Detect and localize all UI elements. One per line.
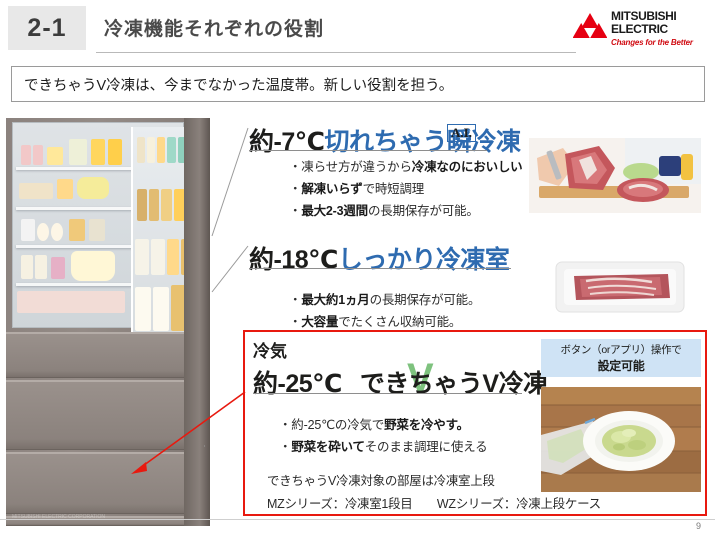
page-number: 9 (696, 521, 701, 531)
logo-tagline: Changes for the Better (611, 38, 693, 47)
bullet-text-tail: そのまま調理に使える (365, 440, 488, 454)
fridge-door-item (149, 189, 159, 221)
photo-meat-on-tray (540, 250, 700, 322)
fridge-door-item (161, 189, 172, 221)
freezer-drawer (6, 380, 184, 450)
bullet-text-plain: ・ (289, 315, 301, 329)
setting-callout: ボタン（orアプリ）操作で 設定可能 (541, 339, 701, 377)
brand-logo: MITSUBISHI ELECTRIC Changes for the Bett… (573, 8, 705, 50)
fridge-food-item (19, 183, 53, 199)
logo-text-electric: ELECTRIC (611, 23, 668, 35)
fridge-food-item (17, 291, 125, 313)
bullet-text-plain: ・約-25℃の冷気で (279, 418, 384, 432)
bullet-text-bold: 大容量 (301, 315, 338, 329)
logo-text-mitsubishi: MITSUBISHI (611, 10, 676, 22)
fridge-door-item (137, 189, 147, 221)
bullet-item: ・凍らせ方が違うから冷凍なのにおいしい (289, 156, 522, 175)
footer-divider (0, 519, 715, 520)
photo-meat-on-tray-graphic (540, 250, 700, 322)
slide-root: 2-1 冷凍機能それぞれの役割 MITSUBISHI ELECTRIC Chan… (0, 0, 715, 536)
section-number-label: 2-1 (27, 14, 66, 43)
fridge-food-item (69, 219, 85, 241)
photo-crushed-vegetables-graphic (541, 387, 701, 492)
fridge-food-item (57, 179, 73, 199)
bullet-text-bold: 最大約1ヵ月 (301, 293, 369, 307)
bullet-text-plain: ・ (289, 293, 301, 307)
fridge-door-item (147, 137, 155, 163)
bullet-text-bold: 解凍いらず (301, 182, 362, 196)
bullet-text-tail: の長期保存が可能。 (370, 293, 481, 307)
freezer-drawer (6, 452, 184, 514)
refrigerator-interior (12, 122, 184, 328)
highlight-note: できちゃうV冷凍対象の部屋は冷凍室上段 (267, 470, 495, 489)
photo-sliced-meat-graphic (529, 138, 701, 213)
section-underline (249, 150, 487, 151)
mitsubishi-diamonds-icon (573, 11, 607, 39)
bullet-item: ・野菜を砕いてそのまま調理に使える (279, 436, 487, 455)
section-temperature: 約-18℃ (249, 246, 338, 274)
page-title: 冷凍機能それぞれの役割 (104, 14, 324, 41)
fridge-food-item (71, 251, 115, 281)
bullet-text-tail: の長期保存が可能。 (368, 204, 479, 218)
highlight-underline (253, 393, 522, 394)
section-underline (249, 268, 511, 269)
fridge-door-item (137, 137, 145, 163)
fridge-food-item (77, 177, 109, 199)
fridge-food-item (108, 139, 122, 165)
bullet-text-bold: 最大2-3週間 (301, 204, 368, 218)
bullet-text-plain: ・凍らせ方が違うから (289, 160, 412, 174)
bullet-item: ・最大約1ヵ月の長期保存が可能。 (289, 289, 480, 308)
bullet-item: ・約-25℃の冷気で野菜を冷やす。 (279, 414, 469, 433)
fridge-food-item (51, 257, 65, 279)
fridge-door-item (153, 287, 169, 331)
fridge-food-item (91, 139, 105, 165)
ai-badge: A.I. (447, 124, 476, 142)
section-temperature: 約-7℃ (249, 128, 325, 156)
bullet-text-bold: 野菜を砕いて (291, 440, 364, 454)
section-name: しっかり冷凍室 (338, 246, 510, 274)
bullet-text-plain: ・ (289, 182, 301, 196)
fridge-door-item (151, 239, 165, 275)
fridge-door-item (135, 239, 149, 275)
bullet-text-plain: ・ (289, 204, 301, 218)
highlight-note: MZシリーズ：冷凍室1段目 WZシリーズ：冷凍上段ケース (267, 493, 601, 512)
fridge-food-item (35, 255, 47, 279)
bullet-item: ・大容量でたくさん収納可能。 (289, 311, 461, 330)
section-heading-flash-freeze: 約-7℃切れちゃう瞬冷凍 (249, 122, 521, 158)
fridge-food-item (37, 223, 49, 241)
highlight-heading: 約-25℃できちゃうV冷凍 (253, 364, 548, 400)
bullet-text-tail: で時短調理 (363, 182, 425, 196)
setting-callout-line1: ボタン（orアプリ）操作で (561, 342, 682, 357)
bullet-text-plain: ・ (279, 440, 291, 454)
fridge-food-item (51, 223, 63, 241)
bullet-item: ・解凍いらずで時短調理 (289, 178, 424, 197)
bullet-text-tail: でたくさん収納可能。 (338, 315, 461, 329)
header-divider (96, 52, 576, 53)
fridge-food-item (89, 219, 105, 241)
section-number-chip: 2-1 (8, 6, 86, 50)
fridge-door-item (157, 137, 165, 163)
fridge-door-item (167, 137, 176, 163)
lead-statement-box: できちゃうV冷凍は、今までなかった温度帯。新しい役割を担う。 (11, 66, 705, 102)
slide-header: 2-1 冷凍機能それぞれの役割 MITSUBISHI ELECTRIC Chan… (0, 0, 715, 56)
freezer-drawer (6, 332, 184, 378)
setting-callout-line2: 設定可能 (598, 357, 645, 374)
refrigerator-photo: MITSUBISHI ELECTRIC CORPORATION (6, 118, 210, 526)
fridge-door-item (167, 239, 179, 275)
fridge-food-item (21, 145, 31, 165)
bullet-text-bold: 野菜を冷やす。 (384, 418, 469, 432)
fridge-food-item (33, 145, 43, 165)
section-heading-deep-freezer: 約-18℃しっかり冷凍室 (249, 240, 509, 276)
photo-sliced-meat (529, 138, 701, 213)
fridge-food-item (21, 255, 33, 279)
highlight-cold-air-label: 冷気 (253, 337, 287, 362)
fridge-food-item (69, 139, 87, 165)
bullet-text-bold: 冷凍なのにおいしい (412, 160, 523, 174)
fridge-food-item (47, 147, 63, 165)
fridge-door-item (135, 287, 151, 331)
photo-crushed-vegetables (541, 387, 701, 492)
fridge-food-item (21, 219, 35, 241)
bullet-item: ・最大2-3週間の長期保存が可能。 (289, 200, 479, 219)
refrigerator-door-edge (184, 118, 210, 526)
section-name: 切れちゃう瞬冷凍 (325, 128, 521, 156)
lead-statement-text: できちゃうV冷凍は、今までなかった温度帯。新しい役割を担う。 (12, 74, 453, 95)
